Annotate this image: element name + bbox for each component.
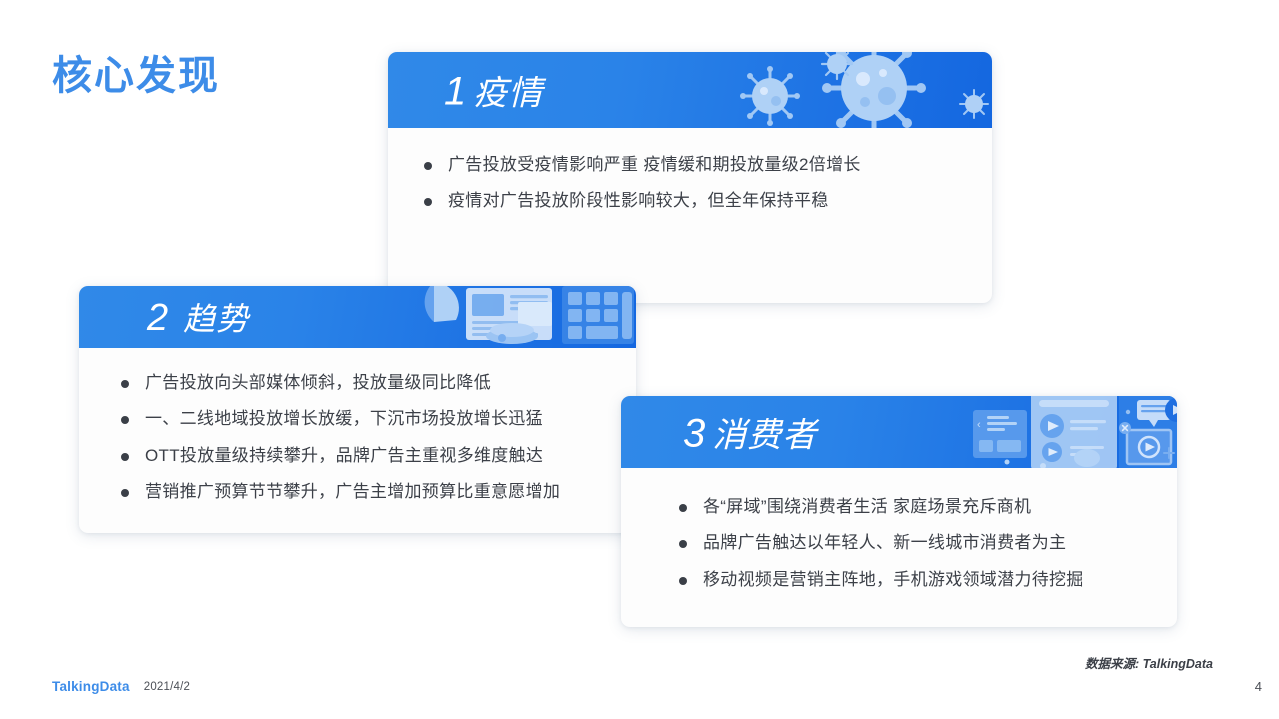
- bullet-dot-icon: [121, 416, 129, 424]
- list-item: 营销推广预算节节攀升，广告主增加预算比重意愿增加: [121, 479, 610, 505]
- bullet-dot-icon: [679, 540, 687, 548]
- dashboard-chart-icons: [306, 286, 636, 348]
- data-source-note: 数据来源: TalkingData: [1085, 653, 1213, 672]
- list-item: 一、二线地域投放增长放缓，下沉市场投放增长迅猛: [121, 406, 610, 432]
- card-consumer-bullets: 各“屏域”围绕消费者生活 家庭场景充斥商机 品牌广告触达以年轻人、新一线城市消费…: [679, 494, 1151, 593]
- card-pandemic-number: 1: [444, 70, 473, 114]
- bullet-dot-icon: [121, 380, 129, 388]
- list-item: 移动视频是营销主阵地，手机游戏领域潜力待挖掘: [679, 567, 1151, 593]
- bullet-dot-icon: [424, 162, 432, 170]
- card-pandemic-title: 1疫情: [444, 66, 543, 115]
- list-item: 各“屏域”围绕消费者生活 家庭场景充斥商机: [679, 494, 1151, 520]
- card-consumer-header: 3消费者 ‹: [621, 396, 1177, 468]
- bullet-text: 品牌广告触达以年轻人、新一线城市消费者为主: [703, 530, 1151, 556]
- bullet-text: 各“屏域”围绕消费者生活 家庭场景充斥商机: [703, 494, 1151, 520]
- bullet-text: 营销推广预算节节攀升，广告主增加预算比重意愿增加: [145, 479, 610, 505]
- card-trend-header: 2趋势: [79, 286, 636, 348]
- list-item: OTT投放量级持续攀升，品牌广告主重视多维度触达: [121, 443, 610, 469]
- video-player-icons: ‹: [847, 396, 1177, 468]
- bullet-dot-icon: [679, 504, 687, 512]
- bullet-dot-icon: [424, 198, 432, 206]
- card-pandemic-body: 广告投放受疫情影响严重 疫情缓和期投放量级2倍增长 疫情对广告投放阶段性影响较大…: [388, 128, 992, 303]
- card-trend-number: 2: [147, 297, 183, 339]
- bullet-text: 广告投放受疫情影响严重 疫情缓和期投放量级2倍增长: [448, 152, 962, 178]
- card-trend-body: 广告投放向头部媒体倾斜，投放量级同比降低 一、二线地域投放增长放缓，下沉市场投放…: [79, 348, 636, 533]
- card-consumer-number: 3: [683, 412, 712, 456]
- card-consumer[interactable]: 3消费者 ‹: [621, 396, 1177, 627]
- card-trend-title: 2趋势: [147, 294, 249, 340]
- slide-canvas: 核心发现 1疫情: [0, 0, 1279, 719]
- card-trend-bullets: 广告投放向头部媒体倾斜，投放量级同比降低 一、二线地域投放增长放缓，下沉市场投放…: [121, 370, 610, 505]
- list-item: 疫情对广告投放阶段性影响较大，但全年保持平稳: [424, 188, 962, 214]
- bullet-text: 疫情对广告投放阶段性影响较大，但全年保持平稳: [448, 188, 962, 214]
- bullet-dot-icon: [679, 577, 687, 585]
- card-consumer-body: 各“屏域”围绕消费者生活 家庭场景充斥商机 品牌广告触达以年轻人、新一线城市消费…: [621, 468, 1177, 627]
- virus-icons: [662, 52, 992, 128]
- bullet-dot-icon: [121, 453, 129, 461]
- list-item: 广告投放受疫情影响严重 疫情缓和期投放量级2倍增长: [424, 152, 962, 178]
- bullet-text: OTT投放量级持续攀升，品牌广告主重视多维度触达: [145, 443, 610, 469]
- talkingdata-logo: TalkingData: [52, 679, 130, 694]
- list-item: 广告投放向头部媒体倾斜，投放量级同比降低: [121, 370, 610, 396]
- bullet-dot-icon: [121, 489, 129, 497]
- card-pandemic-label: 疫情: [473, 75, 543, 113]
- card-pandemic-bullets: 广告投放受疫情影响严重 疫情缓和期投放量级2倍增长 疫情对广告投放阶段性影响较大…: [424, 152, 962, 215]
- page-number: 4: [1255, 679, 1262, 694]
- card-consumer-title: 3消费者: [683, 408, 817, 457]
- card-pandemic-header: 1疫情: [388, 52, 992, 128]
- card-trend-label: 趋势: [183, 301, 249, 337]
- bullet-text: 移动视频是营销主阵地，手机游戏领域潜力待挖掘: [703, 567, 1151, 593]
- card-trend[interactable]: 2趋势: [79, 286, 636, 533]
- footer-date: 2021/4/2: [144, 681, 190, 693]
- card-consumer-label: 消费者: [712, 417, 817, 455]
- card-pandemic[interactable]: 1疫情: [388, 52, 992, 303]
- page-title: 核心发现: [52, 52, 220, 100]
- footer: TalkingData 2021/4/2: [52, 679, 190, 694]
- bullet-text: 一、二线地域投放增长放缓，下沉市场投放增长迅猛: [145, 406, 610, 432]
- list-item: 品牌广告触达以年轻人、新一线城市消费者为主: [679, 530, 1151, 556]
- svg-text:‹: ‹: [977, 419, 981, 431]
- bullet-text: 广告投放向头部媒体倾斜，投放量级同比降低: [145, 370, 610, 396]
